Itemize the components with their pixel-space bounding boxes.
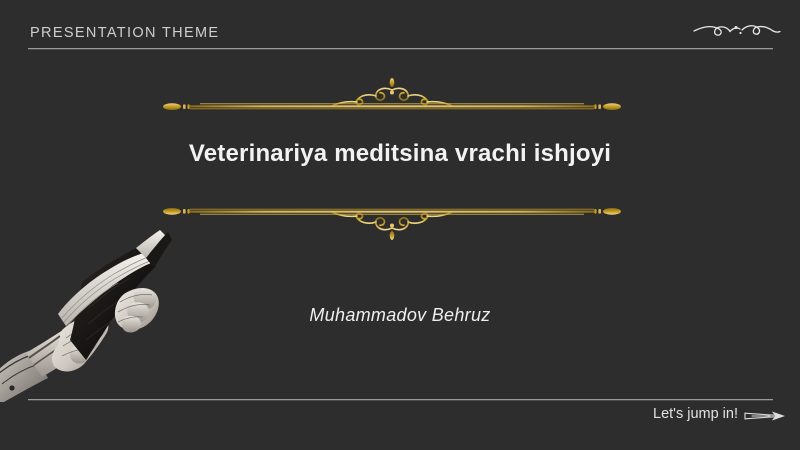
hands-holding-open-book-engraving	[0, 222, 186, 402]
gold-ornament-divider-down	[162, 196, 622, 242]
header-theme-label: PRESENTATION THEME	[30, 25, 219, 41]
footer-cta-label: Let's jump in!	[653, 406, 738, 422]
gold-ornament-divider-up	[162, 76, 622, 122]
long-arrow-right-icon	[744, 408, 786, 424]
footer-rule	[28, 399, 773, 401]
page-title: Veterinariya meditsina vrachi ishjoyi	[0, 140, 800, 168]
presentation-slide: PRESENTATION THEME	[0, 0, 800, 450]
header-rule	[28, 48, 773, 50]
scroll-flourish-icon	[690, 16, 782, 44]
